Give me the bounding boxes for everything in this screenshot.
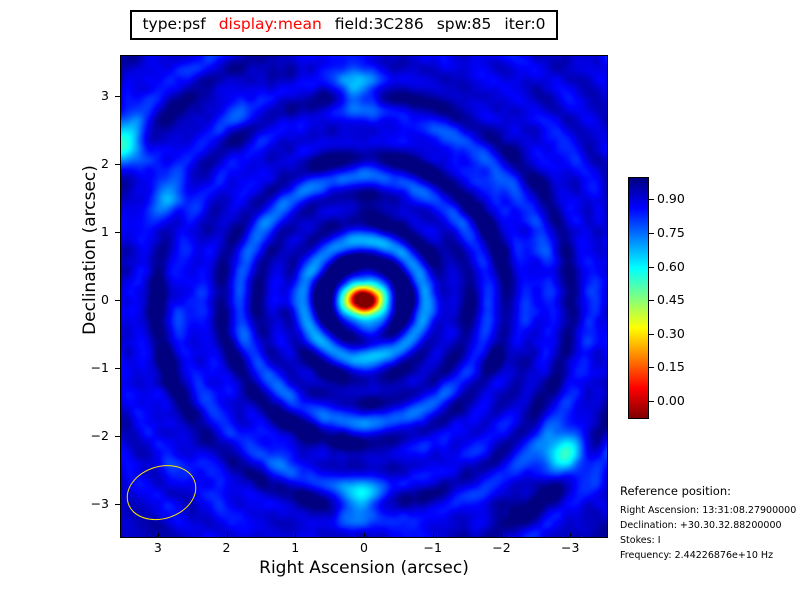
title-item-0: type:psf xyxy=(142,17,205,33)
x-axis-label: Right Ascension (arcsec) xyxy=(120,558,608,578)
title-item-4: iter:0 xyxy=(504,17,545,33)
reference-position-line-2: Stokes: I xyxy=(620,533,800,548)
colorbar-tick-0 xyxy=(649,199,654,200)
colorbar-tick-label-0: 0.90 xyxy=(657,191,685,206)
colorbar-tick-label-4: 0.30 xyxy=(657,326,685,341)
x-tick-label-0: 3 xyxy=(138,540,178,555)
reference-position-line-1: Declination: +30.30.32.88200000 xyxy=(620,518,800,533)
colorbar-tick-label-3: 0.45 xyxy=(657,292,685,307)
reference-position-block: Reference position: Right Ascension: 13:… xyxy=(620,484,800,563)
x-tick-label-5: −2 xyxy=(481,540,521,555)
colorbar-tick-2 xyxy=(649,267,654,268)
y-tick-5 xyxy=(115,436,120,437)
title-item-1: display:mean xyxy=(219,17,322,33)
y-tick-1 xyxy=(115,164,120,165)
x-tick-label-2: 1 xyxy=(275,540,315,555)
psf-viewer: type:psfdisplay:meanfield:3C286spw:85ite… xyxy=(0,0,800,600)
x-tick-label-1: 2 xyxy=(207,540,247,555)
y-tick-label-6: −3 xyxy=(85,496,109,511)
y-tick-0 xyxy=(115,96,120,97)
colorbar-tick-4 xyxy=(649,334,654,335)
colorbar-gradient[interactable] xyxy=(628,177,649,419)
colorbar-tick-3 xyxy=(649,300,654,301)
colorbar-tick-label-1: 0.75 xyxy=(657,225,685,240)
psf-heatmap-canvas[interactable] xyxy=(121,56,607,537)
y-tick-3 xyxy=(115,300,120,301)
x-tick-6 xyxy=(570,533,571,538)
y-tick-6 xyxy=(115,504,120,505)
y-axis-label: Declination (arcsec) xyxy=(80,110,100,390)
reference-position-line-0: Right Ascension: 13:31:08.27900000 xyxy=(620,503,800,518)
y-tick-label-4: −1 xyxy=(85,360,109,375)
image-metadata-title-bar: type:psfdisplay:meanfield:3C286spw:85ite… xyxy=(130,10,558,40)
x-tick-5 xyxy=(501,533,502,538)
colorbar-tick-6 xyxy=(649,401,654,402)
x-tick-4 xyxy=(433,533,434,538)
x-tick-label-3: 0 xyxy=(344,540,384,555)
x-tick-1 xyxy=(227,533,228,538)
colorbar-tick-label-5: 0.15 xyxy=(657,359,685,374)
colorbar-tick-5 xyxy=(649,367,654,368)
x-tick-label-6: −3 xyxy=(550,540,590,555)
reference-position-lines: Right Ascension: 13:31:08.27900000Declin… xyxy=(620,503,800,563)
y-tick-4 xyxy=(115,368,120,369)
psf-image-plot[interactable] xyxy=(120,55,608,538)
y-tick-label-0: 3 xyxy=(85,88,109,103)
colorbar-tick-label-6: 0.00 xyxy=(657,393,685,408)
colorbar-container[interactable] xyxy=(628,177,649,419)
title-item-2: field:3C286 xyxy=(335,17,424,33)
y-tick-2 xyxy=(115,232,120,233)
y-tick-label-3: 0 xyxy=(85,292,109,307)
x-tick-label-4: −1 xyxy=(413,540,453,555)
reference-position-heading: Reference position: xyxy=(620,484,800,498)
x-tick-0 xyxy=(158,533,159,538)
colorbar-tick-label-2: 0.60 xyxy=(657,259,685,274)
x-tick-3 xyxy=(364,533,365,538)
y-tick-label-5: −2 xyxy=(85,428,109,443)
title-item-3: spw:85 xyxy=(437,17,492,33)
x-tick-2 xyxy=(295,533,296,538)
colorbar-tick-1 xyxy=(649,233,654,234)
y-tick-label-2: 1 xyxy=(85,224,109,239)
y-tick-label-1: 2 xyxy=(85,156,109,171)
reference-position-line-3: Frequency: 2.44226876e+10 Hz xyxy=(620,548,800,563)
